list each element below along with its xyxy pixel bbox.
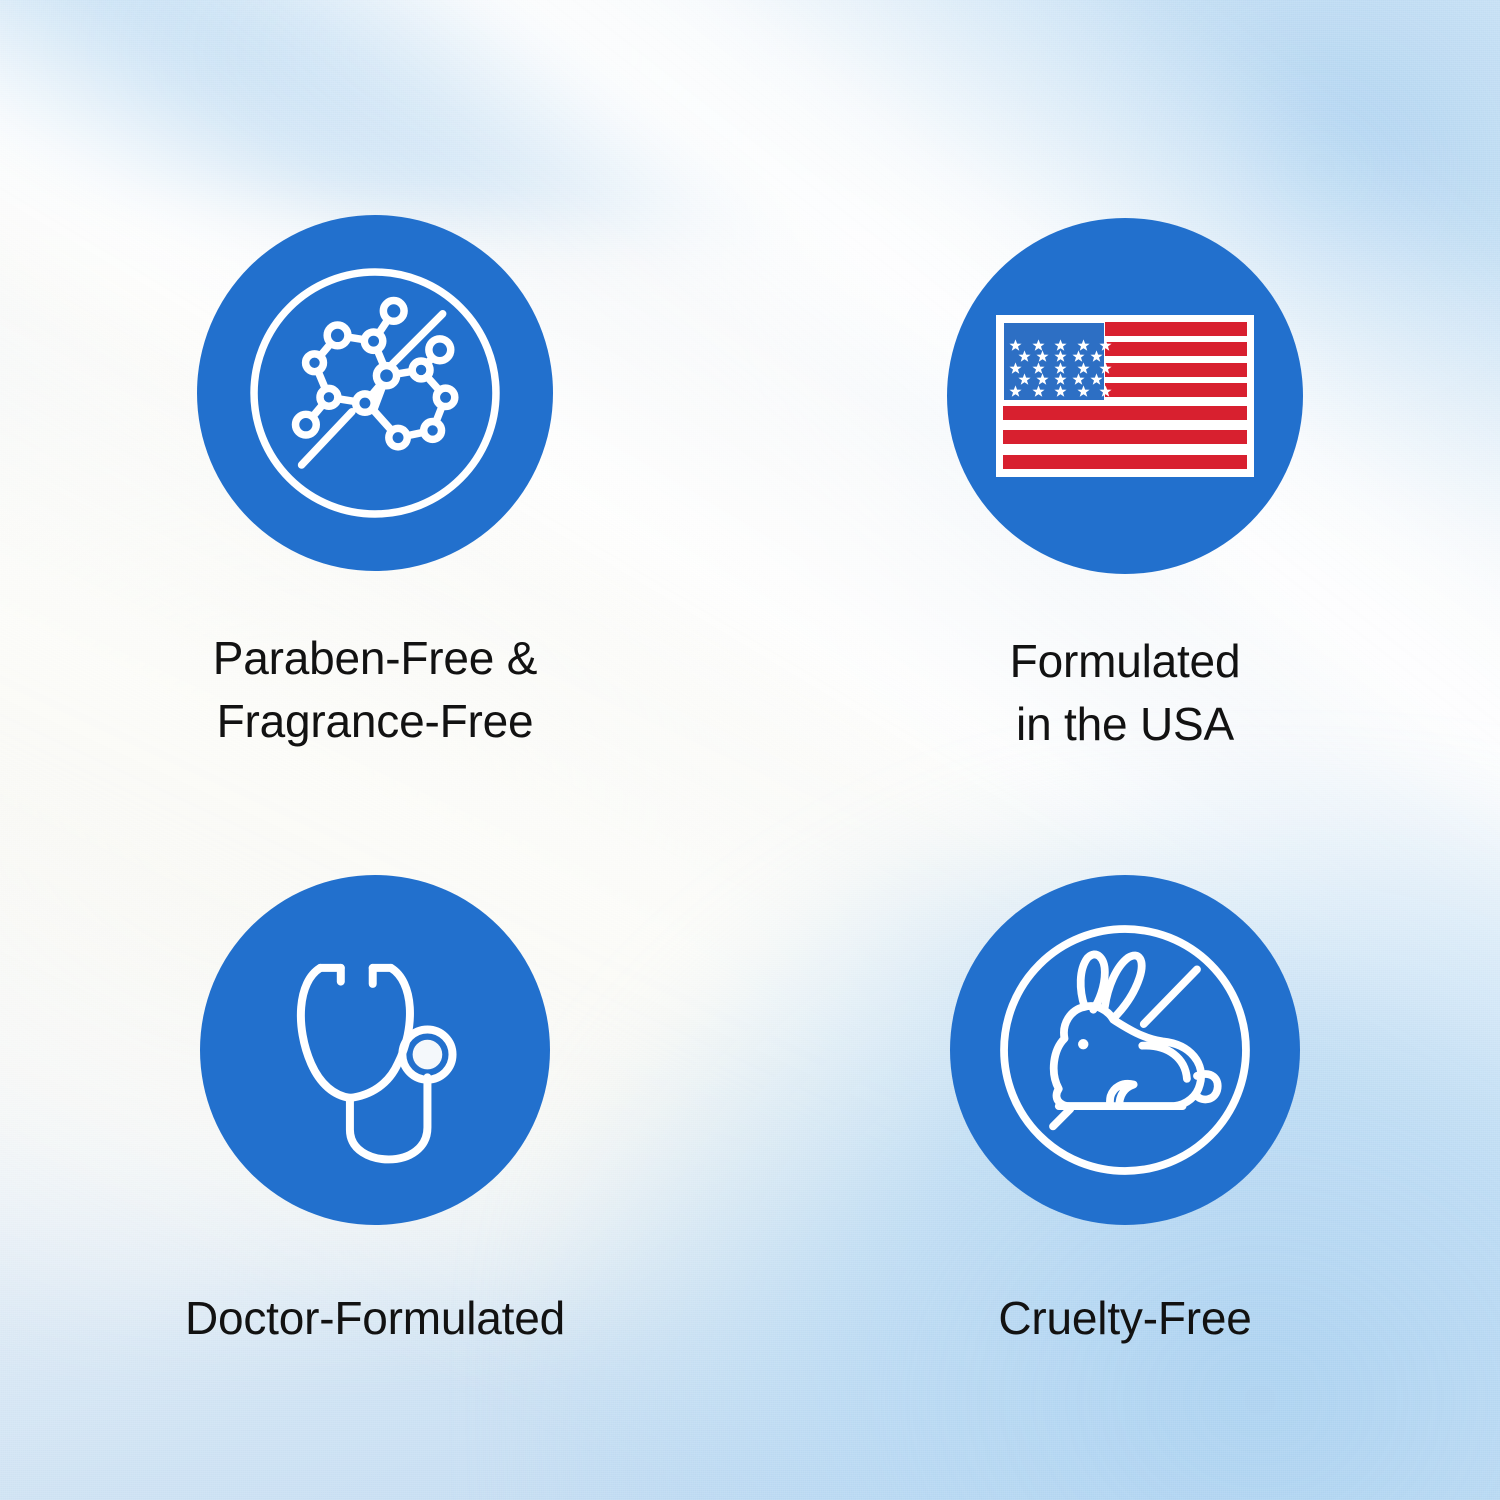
flag-stripe [1003, 430, 1247, 444]
badge-doctor-formulated: Doctor-Formulated [0, 760, 750, 1500]
flag-stripe [1105, 383, 1247, 397]
badge-cruelty-free: Cruelty-Free [750, 760, 1500, 1500]
flag-stripe [1105, 363, 1247, 377]
badge-circle [197, 215, 553, 571]
flag-stripe [1003, 455, 1247, 469]
flag-stripe [1003, 406, 1247, 420]
badge-formulated-in-usa: Formulated in the USA [750, 0, 1500, 760]
flag-canton [1003, 322, 1105, 401]
badge-label: Paraben-Free & Fragrance-Free [213, 627, 537, 752]
badge-label: Cruelty-Free [998, 1287, 1251, 1350]
stethoscope-icon [261, 936, 489, 1164]
flag-stripe [1105, 342, 1247, 356]
badge-paraben-fragrance-free: Paraben-Free & Fragrance-Free [0, 0, 750, 760]
badge-label: Doctor-Formulated [185, 1287, 565, 1350]
promo-graphic: Paraben-Free & Fragrance-Free [0, 0, 1500, 1500]
badge-circle [947, 218, 1303, 574]
flag-field [1003, 322, 1247, 470]
badge-circle [950, 875, 1300, 1225]
flag-stripe [1105, 322, 1247, 336]
no-rabbit-icon [981, 906, 1269, 1194]
badge-label: Formulated in the USA [1010, 630, 1241, 755]
no-chemical-molecule-icon [231, 249, 519, 537]
badge-circle [200, 875, 550, 1225]
badge-grid: Paraben-Free & Fragrance-Free [0, 0, 1500, 1500]
usa-flag-icon [996, 315, 1254, 477]
